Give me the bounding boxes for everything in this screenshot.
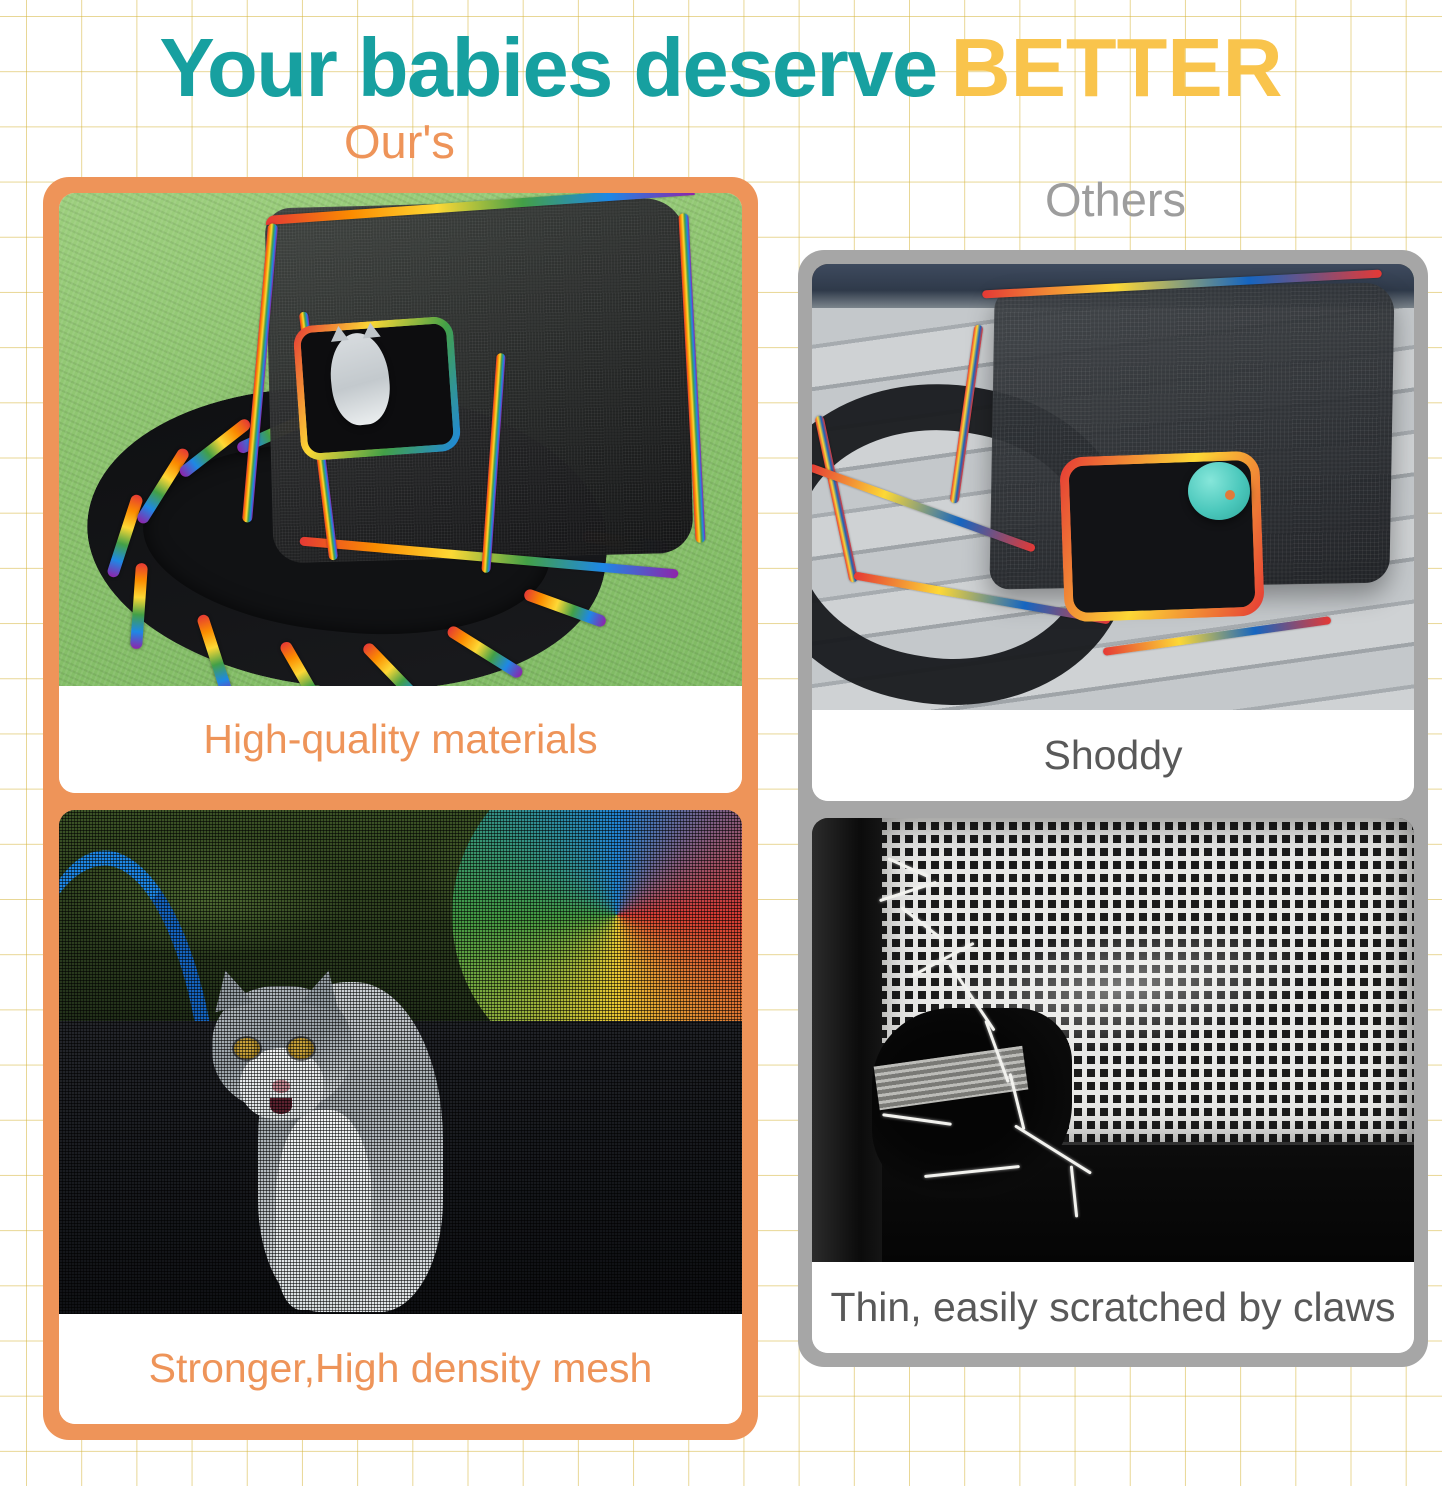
photo-saggy-playpen-on-deck [812,264,1414,710]
photo-torn-mesh [812,818,1414,1261]
comparison-card: Stronger,High density mesh [59,810,742,1424]
cat-mouth [270,1098,292,1114]
page-title: Your babies deserveBETTER [0,26,1442,109]
comparison-card: High-quality materials [59,193,742,793]
toy-ball [1188,462,1250,520]
comparison-card: Thin, easily scratched by claws [812,818,1414,1353]
headline-yellow-text: BETTER [937,21,1283,114]
comparison-panel-ours: High-quality materials Stron [43,177,758,1440]
photo-cat-behind-mesh [59,810,742,1314]
card-caption: Thin, easily scratched by claws [812,1262,1414,1353]
photo-playpen-on-turf [59,193,742,686]
comparison-panel-others: Shoddy Thin, easily scratched by claws [798,250,1428,1367]
cat-chest [276,1110,372,1310]
caption-text: Thin, easily scratched by claws [812,1286,1414,1329]
column-label-ours: Our's [344,118,455,165]
caption-text: Shoddy [812,734,1414,777]
comparison-card: Shoddy [812,264,1414,801]
caption-text: High-quality materials [59,718,742,761]
cat-eye-left [234,1038,260,1059]
rainbow-trim [1103,616,1332,656]
cat-eye-right [288,1038,314,1059]
cat-nose [272,1080,290,1093]
headline-teal-text: Your babies deserve [159,21,936,114]
caption-text: Stronger,High density mesh [59,1347,742,1390]
card-caption: High-quality materials [59,686,742,793]
frame-edge [812,818,882,1261]
cat-subject [204,930,474,1310]
column-label-others: Others [1045,176,1186,223]
card-caption: Stronger,High density mesh [59,1314,742,1424]
card-caption: Shoddy [812,710,1414,801]
